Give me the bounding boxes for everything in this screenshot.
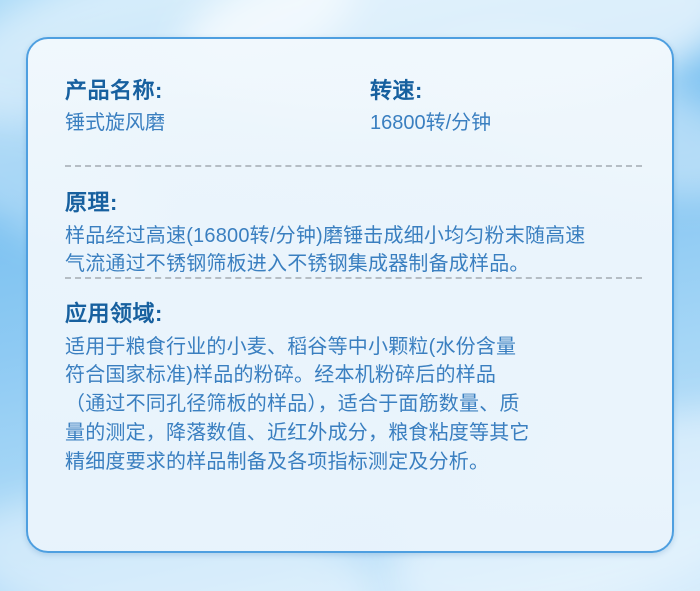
- application-line: 量的测定，降落数值、近红外成分，粮食粘度等其它: [65, 419, 642, 448]
- product-name-value: 锤式旋风磨: [65, 110, 370, 136]
- spec-row-basic: 产品名称: 锤式旋风磨 转速: 16800转/分钟: [65, 77, 642, 136]
- application-line: 精细度要求的样品制备及各项指标测定及分析。: [65, 448, 642, 477]
- principle-body: 样品经过高速(16800转/分钟)磨锤击成细小均匀粉末随高速 气流通过不锈钢筛板…: [65, 222, 642, 280]
- rotation-speed-heading: 转速:: [370, 77, 642, 105]
- principle-heading: 原理:: [65, 189, 642, 217]
- page-root: 产品名称: 锤式旋风磨 转速: 16800转/分钟 原理: 样品经过高速(168…: [0, 0, 700, 591]
- application-heading: 应用领域:: [65, 300, 642, 328]
- spec-product-name: 产品名称: 锤式旋风磨: [65, 77, 370, 136]
- application-line: 符合国家标准)样品的粉碎。经本机粉碎后的样品: [65, 361, 642, 390]
- spec-application: 应用领域: 适用于粮食行业的小麦、稻谷等中小颗粒(水份含量 符合国家标准)样品的…: [65, 300, 642, 476]
- application-line: 适用于粮食行业的小麦、稻谷等中小颗粒(水份含量: [65, 333, 642, 362]
- section-divider: [65, 277, 642, 279]
- principle-line: 气流通过不锈钢筛板进入不锈钢集成器制备成样品。: [65, 250, 642, 279]
- application-line: （通过不同孔径筛板的样品），适合于面筋数量、质: [65, 390, 642, 419]
- spec-principle: 原理: 样品经过高速(16800转/分钟)磨锤击成细小均匀粉末随高速 气流通过不…: [65, 189, 642, 279]
- product-name-heading: 产品名称:: [65, 77, 370, 105]
- rotation-speed-value: 16800转/分钟: [370, 110, 642, 136]
- application-body: 适用于粮食行业的小麦、稻谷等中小颗粒(水份含量 符合国家标准)样品的粉碎。经本机…: [65, 333, 642, 477]
- product-info-card: 产品名称: 锤式旋风磨 转速: 16800转/分钟 原理: 样品经过高速(168…: [26, 37, 674, 553]
- spec-rotation-speed: 转速: 16800转/分钟: [370, 77, 642, 136]
- section-divider: [65, 165, 642, 167]
- principle-line: 样品经过高速(16800转/分钟)磨锤击成细小均匀粉末随高速: [65, 222, 642, 251]
